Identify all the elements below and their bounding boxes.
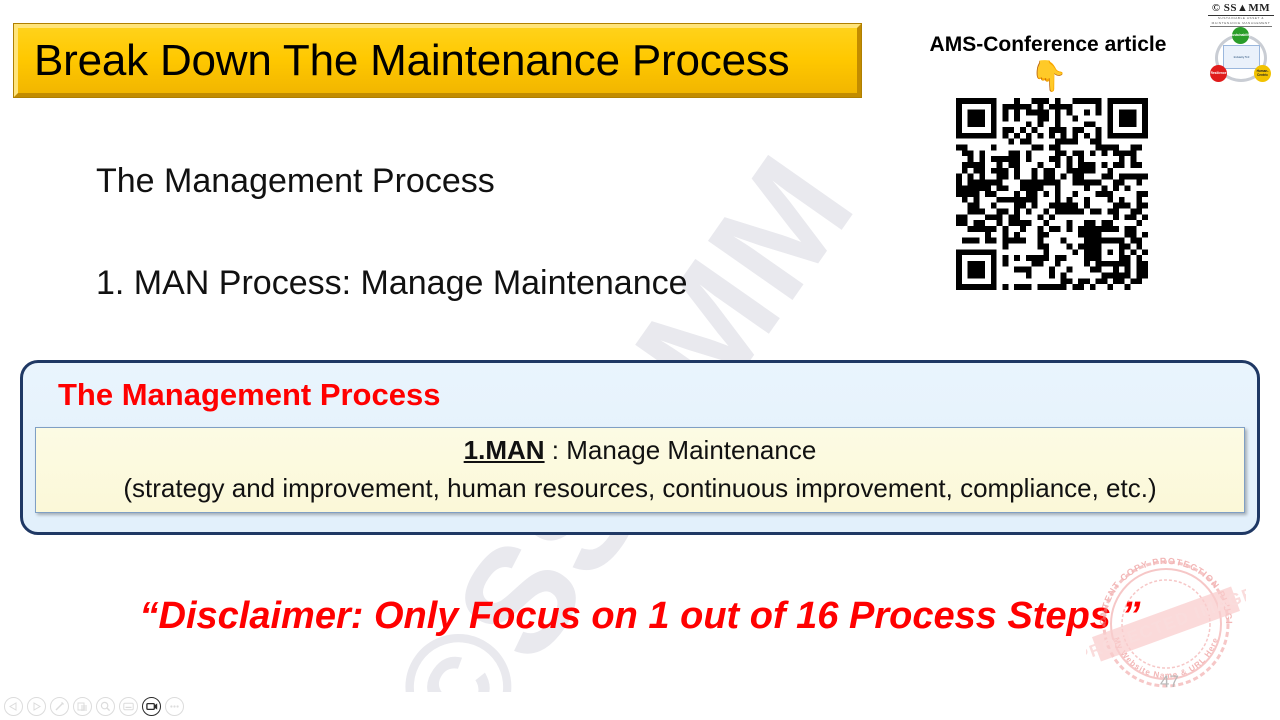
process-detail-code: 1.MAN [464, 435, 545, 465]
pen-annotate-button[interactable] [50, 697, 69, 716]
disclaimer-text: “Disclaimer: Only Focus on 1 out of 16 P… [0, 595, 1280, 638]
ams-conference-label: AMS-Conference article [916, 33, 1180, 57]
process-detail-line-1: 1.MAN : Manage Maintenance [36, 435, 1244, 466]
slide-grid-button[interactable] [73, 697, 92, 716]
slide-title-banner: Break Down The Maintenance Process [14, 24, 861, 97]
body-line-management-process: The Management Process [96, 162, 495, 201]
player-toolbar [0, 692, 1280, 720]
page-number: 47 [1160, 672, 1179, 692]
process-detail-line-2: (strategy and improvement, human resourc… [36, 473, 1244, 504]
ssamm-logo: © SS▲MM SUSTAINABLE ASSET & MAINTENANCE … [1204, 2, 1278, 92]
diagram-node-human-centric: Human-Centric [1254, 65, 1271, 82]
zoom-button[interactable] [96, 697, 115, 716]
process-detail-name: : Manage Maintenance [545, 435, 817, 465]
qr-code[interactable] [956, 98, 1148, 290]
logo-brand-text: © SS▲MM [1204, 2, 1278, 14]
slide-title-text: Break Down The Maintenance Process [34, 36, 789, 86]
more-options-button[interactable] [165, 697, 184, 716]
body-line-man-process: 1. MAN Process: Manage Maintenance [96, 264, 688, 303]
previous-slide-button[interactable] [4, 697, 23, 716]
video-camera-icon [146, 701, 158, 712]
grid-icon [77, 701, 88, 712]
industry-five-diagram: Industry 5.0 Sustainability Resilience H… [1204, 29, 1278, 87]
diagram-center-chip: Industry 5.0 [1223, 45, 1260, 69]
presentation-slide: ©SSAMM Break Down The Maintenance Proces… [0, 0, 1280, 720]
process-box-heading: The Management Process [58, 377, 440, 413]
next-slide-button[interactable] [27, 697, 46, 716]
diagram-node-resilience: Resilience [1210, 65, 1227, 82]
triangle-right-icon [32, 702, 41, 711]
triangle-left-icon [9, 702, 18, 711]
process-detail-box: 1.MAN : Manage Maintenance (strategy and… [35, 427, 1245, 513]
logo-subtitle-line-2: MAINTENANCE MANAGEMENT [1204, 21, 1278, 26]
magnifier-icon [100, 701, 111, 712]
pointing-down-hand-icon: 👇 [1030, 62, 1067, 92]
management-process-box: The Management Process 1.MAN : Manage Ma… [20, 360, 1260, 535]
record-button[interactable] [142, 697, 161, 716]
qr-code-image [956, 98, 1148, 290]
subtitles-button[interactable] [119, 697, 138, 716]
caption-icon [123, 701, 134, 712]
pen-icon [54, 701, 65, 712]
ellipsis-icon [169, 701, 180, 712]
